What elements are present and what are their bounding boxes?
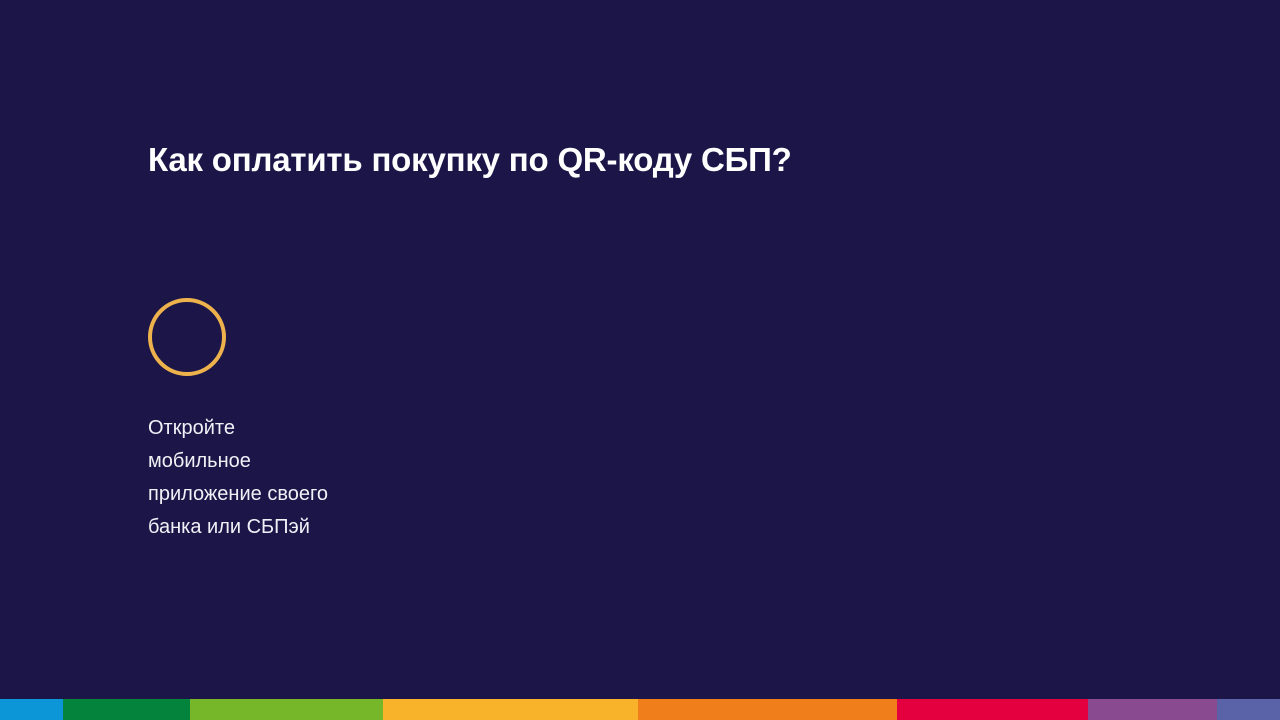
accent-segment-purple bbox=[1088, 699, 1217, 720]
step-caption: Откройте мобильное приложение своего бан… bbox=[148, 376, 408, 544]
accent-segment-slate-blue bbox=[1217, 699, 1280, 720]
slide-canvas: Как оплатить покупку по QR-коду СБП? Отк… bbox=[0, 0, 1280, 720]
accent-segment-crimson bbox=[897, 699, 1088, 720]
step-item: Откройте мобильное приложение своего бан… bbox=[148, 298, 448, 544]
accent-color-bar bbox=[0, 699, 1280, 720]
accent-segment-orange bbox=[638, 699, 897, 720]
step-circle-icon bbox=[148, 298, 226, 376]
accent-segment-yellow bbox=[383, 699, 638, 720]
accent-segment-blue bbox=[0, 699, 63, 720]
page-title: Как оплатить покупку по QR-коду СБП? bbox=[148, 138, 1128, 182]
accent-segment-light-green bbox=[190, 699, 383, 720]
accent-segment-green bbox=[63, 699, 190, 720]
